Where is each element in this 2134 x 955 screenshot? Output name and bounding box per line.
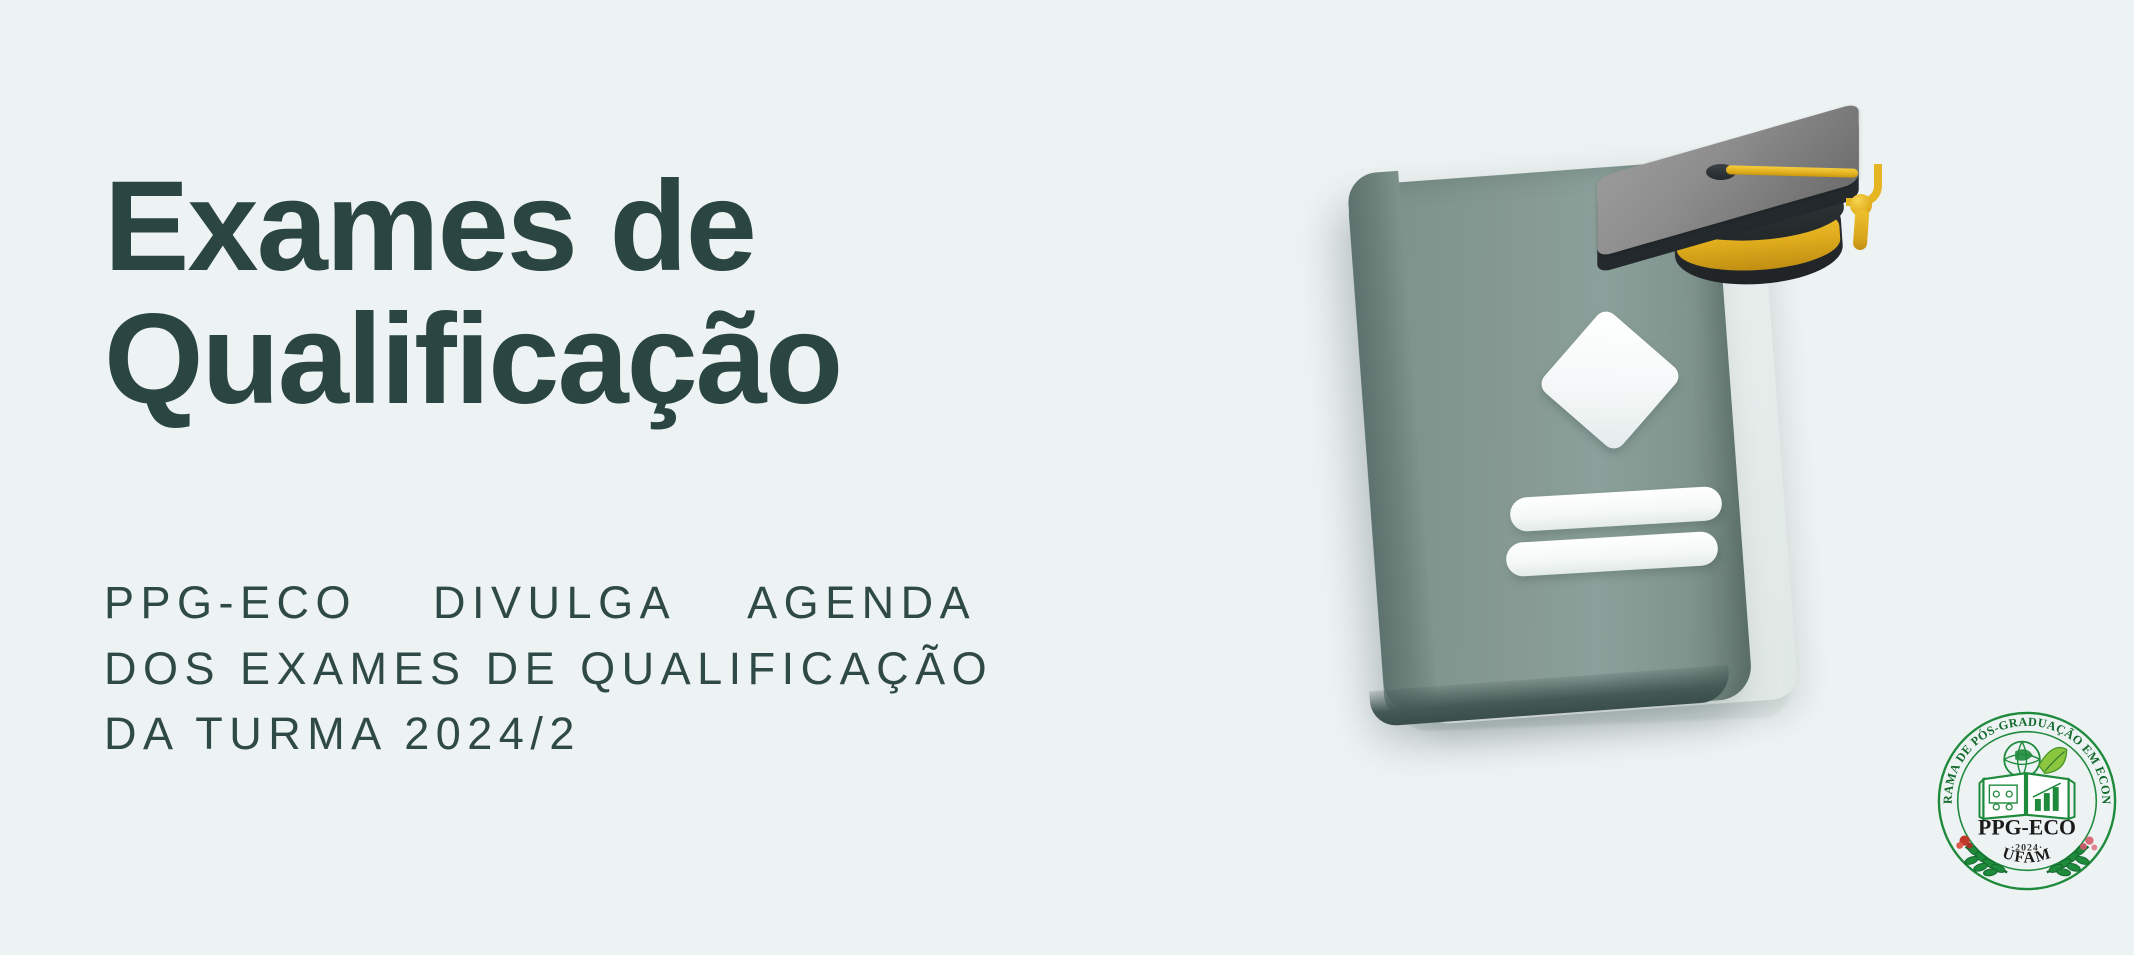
subtitle-line-3: DA TURMA 2024/2 bbox=[104, 701, 1304, 767]
seal-acronym: PPG-ECO bbox=[1978, 816, 2076, 840]
ppg-eco-seal-logo: PROGRAMA DE PÓS-GRADUAÇÃO EM ECONOMIA bbox=[1928, 702, 2126, 900]
page-title: Exames de Qualificação bbox=[104, 160, 1284, 426]
announcement-banner: Exames de Qualificação PPG-ECO DIVULGA A… bbox=[0, 0, 2134, 955]
subtitle-block: PPG-ECO DIVULGA AGENDA DOS EXAMES DE QUA… bbox=[104, 570, 1304, 767]
book-graduation-illustration bbox=[1330, 60, 1970, 790]
tassel-tail bbox=[1853, 210, 1870, 251]
graduation-cap-icon bbox=[1588, 88, 1908, 308]
headline-block: Exames de Qualificação bbox=[104, 160, 1284, 426]
subtitle-line-1: PPG-ECO DIVULGA AGENDA bbox=[104, 570, 1304, 636]
subtitle-line-2: DOS EXAMES DE QUALIFICAÇÃO bbox=[104, 636, 1304, 702]
